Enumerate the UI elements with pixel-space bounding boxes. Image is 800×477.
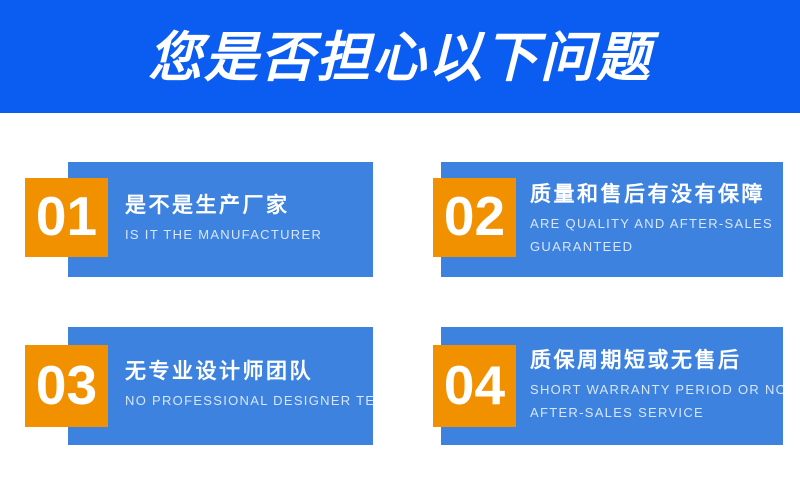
card-subtitle-line: AFTER-SALES SERVICE <box>530 402 787 425</box>
card-text-block: 是不是生产厂家 IS IT THE MANUFACTURER <box>125 168 322 272</box>
card-title: 无专业设计师团队 <box>125 359 397 385</box>
card-number-label: 03 <box>36 358 97 413</box>
problem-card-02: 02 质量和售后有没有保障 ARE QUALITY AND AFTER-SALE… <box>400 150 800 290</box>
card-number-label: 04 <box>444 358 505 413</box>
header-banner: 您是否担心以下问题 <box>0 0 800 113</box>
card-number-badge: 04 <box>433 345 516 427</box>
card-number-label: 02 <box>444 189 505 244</box>
problem-card-01: 01 是不是生产厂家 IS IT THE MANUFACTURER <box>0 150 400 290</box>
card-title: 质保周期短或无售后 <box>530 348 787 374</box>
problem-card-03: 03 无专业设计师团队 NO PROFESSIONAL DESIGNER TEA… <box>0 316 400 456</box>
card-subtitle-line: SHORT WARRANTY PERIOD OR NO <box>530 379 787 402</box>
promo-banner-page: 您是否担心以下问题 01 是不是生产厂家 IS IT THE MANUFACTU… <box>0 0 800 477</box>
card-subtitle-line: ARE QUALITY AND AFTER-SALES <box>530 213 773 236</box>
card-text-block: 无专业设计师团队 NO PROFESSIONAL DESIGNER TEAM <box>125 334 397 438</box>
card-number-label: 01 <box>36 189 97 244</box>
card-subtitle-line: IS IT THE MANUFACTURER <box>125 224 322 247</box>
page-title: 您是否担心以下问题 <box>148 31 652 85</box>
card-number-badge: 02 <box>433 178 516 257</box>
card-title: 质量和售后有没有保障 <box>530 182 773 208</box>
card-text-block: 质量和售后有没有保障 ARE QUALITY AND AFTER-SALES G… <box>530 168 773 272</box>
card-number-badge: 03 <box>25 345 108 427</box>
problem-card-04: 04 质保周期短或无售后 SHORT WARRANTY PERIOD OR NO… <box>400 316 800 456</box>
card-title: 是不是生产厂家 <box>125 193 322 219</box>
card-subtitle-line: GUARANTEED <box>530 236 773 259</box>
card-text-block: 质保周期短或无售后 SHORT WARRANTY PERIOD OR NO AF… <box>530 334 787 438</box>
card-number-badge: 01 <box>25 178 108 257</box>
card-subtitle-line: NO PROFESSIONAL DESIGNER TEAM <box>125 390 397 413</box>
